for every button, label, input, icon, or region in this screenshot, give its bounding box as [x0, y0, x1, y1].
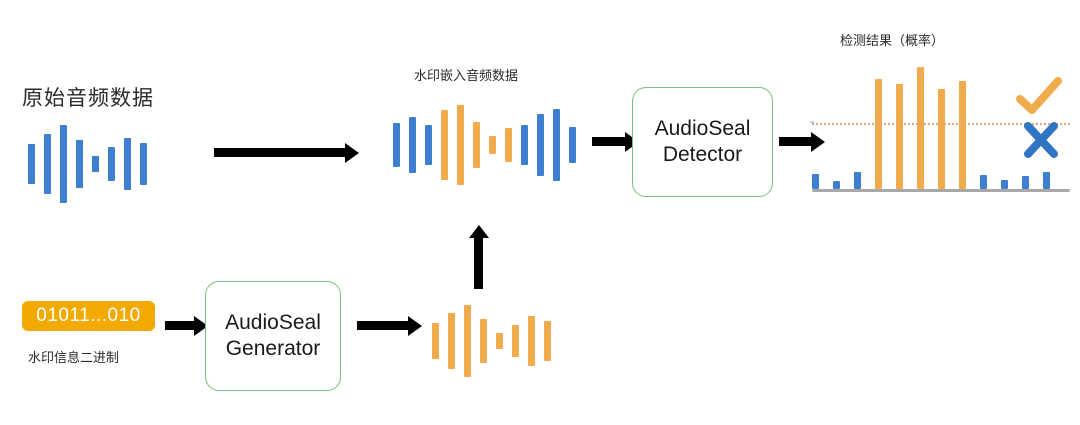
waveform-bar [425, 125, 432, 165]
waveform-bar [480, 319, 487, 363]
waveform-bar [505, 128, 512, 162]
detection-bar [896, 84, 903, 189]
waveform-bar [473, 122, 480, 168]
arrow-watermarked-to-detector [592, 137, 626, 146]
waveform-bar [140, 143, 147, 185]
detection-bar [917, 67, 924, 189]
detection-bar [1001, 180, 1008, 189]
detection-result-label: 检测结果（概率） [840, 30, 944, 49]
waveform-bar [124, 138, 131, 190]
waveform-bar [44, 134, 51, 194]
cross-icon [1018, 120, 1064, 160]
original-audio-waveform [28, 125, 147, 203]
waveform-bar [528, 316, 535, 366]
generator-label-line1: AudioSeal [225, 310, 321, 336]
waveform-bar [28, 144, 35, 184]
generator-label-line2: Generator [226, 336, 321, 362]
detection-bar [959, 81, 966, 189]
detection-bar [875, 79, 882, 189]
detection-bar [854, 172, 861, 189]
arrow-original-to-watermarked [214, 148, 346, 157]
arrow-watermark-signal-to-mix [474, 237, 483, 289]
detection-baseline-axis [812, 189, 1070, 192]
waveform-bar [537, 114, 544, 176]
watermarked-audio-label: 水印嵌入音频数据 [414, 65, 518, 84]
waveform-bar [60, 125, 67, 203]
arrow-detector-to-result [779, 137, 812, 146]
original-audio-label: 原始音频数据 [22, 82, 154, 112]
waveform-bar [496, 333, 503, 349]
audioseal-detector-box[interactable]: AudioSeal Detector [632, 87, 773, 197]
detection-bar [833, 181, 840, 189]
detection-bar [938, 89, 945, 189]
waveform-bar [448, 313, 455, 369]
detector-label-line2: Detector [663, 142, 742, 168]
waveform-bar [489, 136, 496, 154]
waveform-bar [432, 323, 439, 359]
waveform-bar [464, 305, 471, 377]
check-icon [1016, 77, 1062, 117]
arrow-generator-to-watermark-signal [357, 321, 409, 330]
watermarked-audio-waveform [393, 105, 576, 185]
waveform-bar [409, 117, 416, 173]
generated-watermark-waveform [432, 305, 551, 377]
waveform-bar [108, 147, 115, 181]
detection-bar [812, 174, 819, 189]
waveform-bar [457, 105, 464, 185]
waveform-bar [393, 123, 400, 167]
binary-payload-badge: 01011...010 [22, 301, 155, 331]
waveform-bar [544, 321, 551, 361]
detector-label-line1: AudioSeal [655, 116, 751, 142]
detection-bar [1022, 176, 1029, 189]
waveform-bar [441, 110, 448, 180]
binary-message-label: 水印信息二进制 [28, 347, 119, 366]
detection-bar [1043, 172, 1050, 189]
detection-bar [980, 175, 987, 189]
waveform-bar [512, 325, 519, 357]
waveform-bar [521, 125, 528, 165]
arrow-binary-to-generator [165, 321, 195, 330]
audioseal-generator-box[interactable]: AudioSeal Generator [205, 281, 341, 391]
waveform-bar [553, 109, 560, 181]
waveform-bar [76, 140, 83, 188]
binary-payload-text: 01011...010 [36, 305, 140, 327]
waveform-bar [569, 127, 576, 163]
waveform-bar [92, 156, 99, 172]
